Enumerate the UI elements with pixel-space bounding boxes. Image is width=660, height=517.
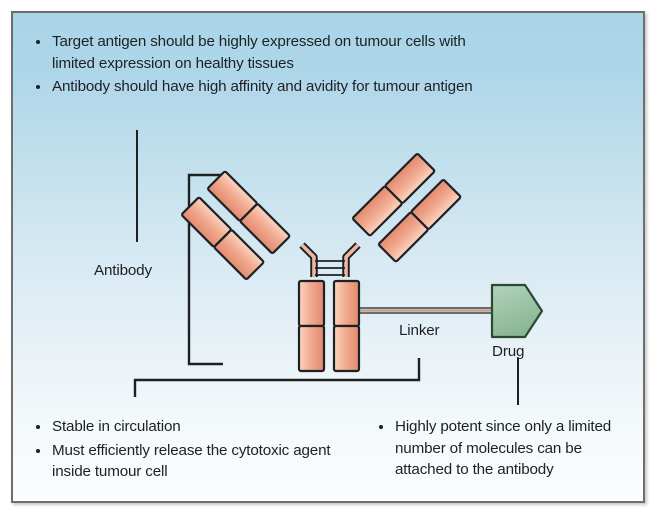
list-item: Stable in circulation bbox=[33, 416, 353, 438]
list-item: Highly potent since only a limited numbe… bbox=[376, 416, 641, 481]
antibody-bracket bbox=[189, 175, 223, 364]
drug-pentagon-icon bbox=[492, 285, 542, 337]
list-item: Target antigen should be highly expresse… bbox=[33, 31, 483, 74]
antibody-right-arm-outer-chain bbox=[352, 153, 435, 236]
antibody-stem-left-chain bbox=[299, 281, 324, 371]
antibody-hinge-disulfide-bonds bbox=[315, 261, 345, 275]
bottom-left-requirements-list: Stable in circulation Must efficiently r… bbox=[33, 416, 353, 483]
list-item: Must efficiently release the cytotoxic a… bbox=[33, 440, 353, 483]
linker-connector bbox=[356, 308, 491, 313]
antibody-left-arm-inner-chain bbox=[181, 197, 264, 280]
antibody-label: Antibody bbox=[94, 262, 152, 280]
top-requirements-list: Target antigen should be highly expresse… bbox=[33, 31, 483, 98]
bottom-bracket bbox=[135, 358, 419, 397]
figure-root: Target antigen should be highly expresse… bbox=[0, 0, 660, 517]
antibody-left-arm-outer-chain bbox=[207, 171, 290, 254]
drug-label: Drug bbox=[492, 343, 524, 361]
antibody-stem-right-chain bbox=[334, 281, 359, 371]
antibody-right-arm-hinge-connector bbox=[346, 245, 358, 277]
linker-label: Linker bbox=[399, 322, 439, 340]
figure-panel: Target antigen should be highly expresse… bbox=[11, 11, 645, 503]
bottom-right-requirements-list: Highly potent since only a limited numbe… bbox=[376, 416, 641, 481]
list-item: Antibody should have high affinity and a… bbox=[33, 76, 483, 98]
antibody-right-arm-inner-chain bbox=[378, 179, 461, 262]
antibody-left-arm-hinge-connector bbox=[302, 245, 314, 277]
